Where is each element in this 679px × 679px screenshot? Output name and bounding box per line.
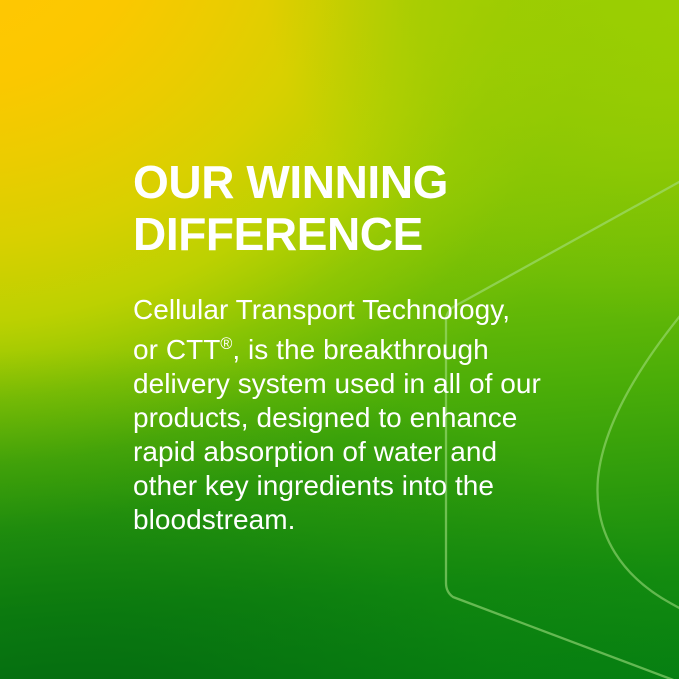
text-content-block: OUR WINNING DIFFERENCE Cellular Transpor… [133, 156, 553, 537]
page-title: OUR WINNING DIFFERENCE [133, 156, 553, 260]
our-winning-difference-panel: OUR WINNING DIFFERENCE Cellular Transpor… [0, 0, 679, 679]
body-description: Cellular Transport Technology, or CTT®, … [133, 260, 553, 537]
registered-trademark-symbol: ® [220, 335, 232, 353]
looping-curve-graphic [597, 292, 679, 620]
